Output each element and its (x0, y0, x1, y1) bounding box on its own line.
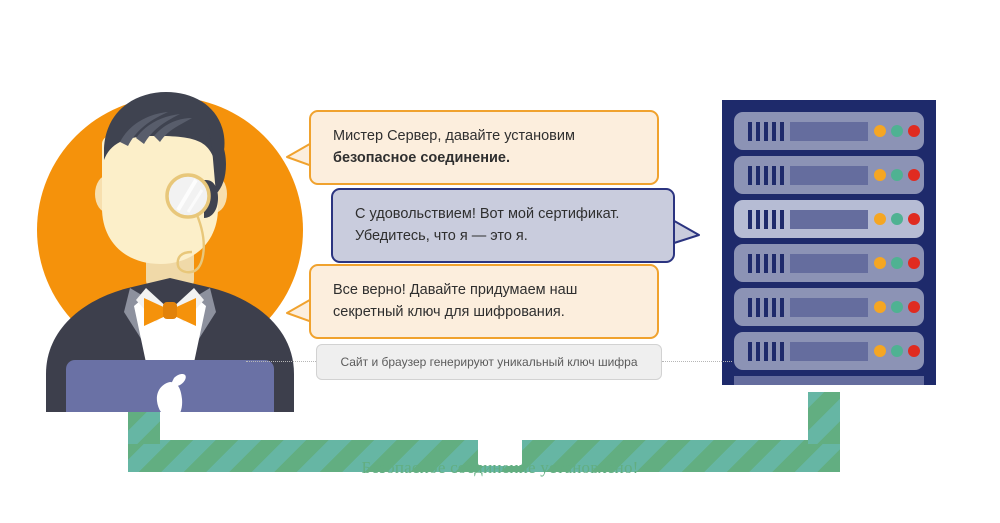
led-amber-icon (874, 169, 886, 181)
server-display-bar (790, 342, 868, 361)
server-display-bar (790, 298, 868, 317)
led-amber-icon (874, 213, 886, 225)
led-red-icon (908, 125, 920, 137)
led-green-icon (891, 125, 903, 137)
led-red-icon (908, 213, 920, 225)
led-green-icon (891, 213, 903, 225)
led-amber-icon (874, 257, 886, 269)
server-display-bar (790, 166, 868, 185)
bubble-line: С удовольствием! Вот мой сертификат. (355, 203, 655, 225)
led-green-icon (891, 345, 903, 357)
server-unit (734, 244, 924, 282)
bubble-line: секретный ключ для шифрования. (333, 301, 639, 323)
led-green-icon (891, 301, 903, 313)
bubble-line-bold: безопасное соединение. (333, 150, 510, 166)
led-green-icon (891, 257, 903, 269)
led-red-icon (908, 169, 920, 181)
led-red-icon (908, 257, 920, 269)
led-amber-icon (874, 125, 886, 137)
secure-channel-right-leg (808, 392, 840, 444)
server-base-bar (734, 376, 924, 385)
led-green-icon (891, 169, 903, 181)
speech-bubble-client-2: Все верно! Давайте придумаем наш секретн… (309, 264, 659, 339)
infographic-canvas: Безопасное соединение установлено! (0, 0, 1000, 523)
server-unit (734, 112, 924, 150)
gentleman-with-monocle-avatar (22, 82, 318, 412)
server-display-bar (790, 122, 868, 141)
server-unit (734, 332, 924, 370)
key-generation-note: Сайт и браузер генерируют уникальный клю… (316, 344, 662, 380)
key-generation-note-text: Сайт и браузер генерируют уникальный клю… (340, 355, 637, 369)
server-unit-active (734, 200, 924, 238)
bubble-line: Мистер Сервер, давайте установим (333, 125, 639, 147)
speech-bubble-server-1: С удовольствием! Вот мой сертификат. Убе… (331, 188, 675, 263)
connector-line-right (662, 361, 732, 362)
server-rack-icon (722, 100, 936, 385)
led-amber-icon (874, 345, 886, 357)
led-red-icon (908, 345, 920, 357)
server-display-bar (790, 210, 868, 229)
speech-bubble-client-1: Мистер Сервер, давайте установим безопас… (309, 110, 659, 185)
bubble-line: Убедитесь, что я — это я. (355, 225, 655, 247)
bubble-line: Все верно! Давайте придумаем наш (333, 279, 639, 301)
led-red-icon (908, 301, 920, 313)
connector-line-left (246, 361, 316, 362)
server-unit (734, 156, 924, 194)
secure-connection-caption: Безопасное соединение установлено! (0, 458, 1000, 478)
server-unit (734, 288, 924, 326)
led-amber-icon (874, 301, 886, 313)
server-display-bar (790, 254, 868, 273)
